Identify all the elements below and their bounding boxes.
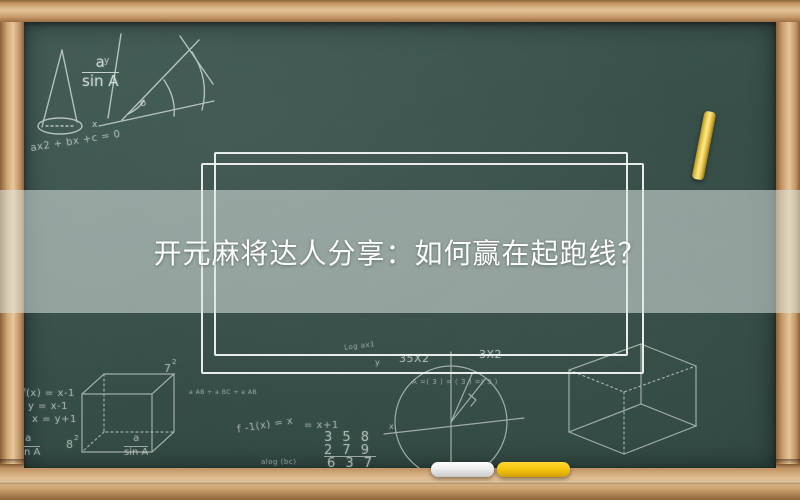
cone-right-edge bbox=[62, 50, 77, 122]
tray-lip bbox=[0, 481, 800, 484]
page-title: 开元麻将达人分享：如何赢在起跑线？ bbox=[0, 190, 800, 313]
cone-base-ellipse bbox=[38, 118, 82, 134]
circle-axis-x-label: x bbox=[389, 422, 394, 431]
angle-arc-outer bbox=[192, 52, 204, 110]
seven-base: 7 bbox=[164, 362, 172, 375]
cone-left-edge bbox=[42, 50, 62, 127]
eight-base: 8 bbox=[66, 438, 74, 451]
cube2-base bbox=[569, 404, 696, 454]
tray-chalk-yellow bbox=[497, 462, 570, 477]
angle-o-label: o bbox=[140, 98, 147, 109]
cube1-hidden bbox=[104, 374, 174, 432]
banner-image: a sin A y x o ax2 + bx +c = 0 f(x) = x-1… bbox=[0, 0, 800, 500]
matrix-expression: A =( 3 ) = ( 3 ) =( 3 ) bbox=[412, 378, 498, 386]
cube1-hidden2 bbox=[82, 432, 104, 452]
cube1-top bbox=[82, 374, 174, 394]
function-fx: f(x) = x-1 bbox=[24, 388, 75, 399]
fraction-a-over-sinA-bl: a sin A bbox=[24, 434, 40, 458]
frame-top-rail bbox=[0, 0, 800, 22]
cube2-right bbox=[641, 344, 696, 426]
cube-formula: a AB + a BC + a AB bbox=[189, 389, 257, 396]
fraction-a-over-sinA-top: a sin A bbox=[82, 55, 119, 90]
axis-y-label: y bbox=[104, 56, 110, 66]
addition-result: 6 3 7 bbox=[327, 456, 375, 468]
alog-bc: alog (bc) bbox=[261, 458, 296, 466]
axis-x-label: x bbox=[92, 120, 98, 130]
fraction-a-over-sinA-bl2: a sin A bbox=[124, 434, 148, 458]
seven-exponent: 2 bbox=[172, 358, 177, 366]
eight-exponent: 2 bbox=[74, 434, 79, 442]
cube1-right bbox=[152, 374, 174, 452]
angle-ray bbox=[122, 40, 199, 120]
tray-chalk-white bbox=[431, 462, 494, 477]
circle-axis-x bbox=[384, 418, 524, 434]
axis-x-line bbox=[99, 101, 214, 126]
function-x-eq: x = y+1 bbox=[32, 414, 77, 425]
function-y-eq: y = x-1 bbox=[28, 401, 68, 412]
